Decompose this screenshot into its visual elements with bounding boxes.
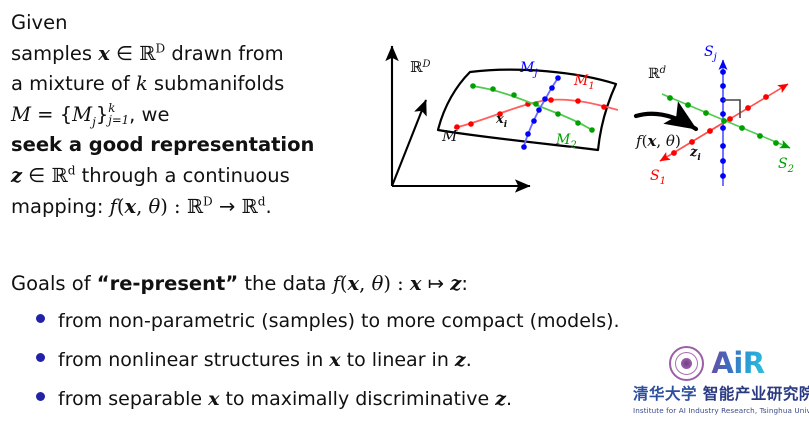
bullet-3-period: . [506, 388, 512, 410]
data-point [739, 125, 745, 131]
mapping-arrow [636, 114, 696, 129]
bullet-dot-icon [36, 392, 45, 401]
bullet-2-part-a: from nonlinear structures in [58, 349, 329, 371]
symbol-x-arg: x [124, 195, 136, 218]
samples-text: samples [11, 42, 98, 65]
domain-dim-D: D [203, 194, 213, 208]
air-tsinghua-logo: AiR 清华大学 智能产业研究院 Institute for AI Indust… [633, 345, 801, 417]
data-point [720, 83, 726, 89]
function-f: f [110, 195, 117, 218]
map-theta: θ [666, 132, 675, 150]
blue-subspace-label: Sj [704, 44, 717, 63]
red-subscript-1: 1 [660, 176, 666, 187]
bullet-2-symbol-z: z [455, 349, 466, 371]
feature-R: ℝ [648, 66, 660, 82]
data-point [555, 75, 561, 81]
map-close-paren: ) [675, 132, 681, 150]
goal-bullet-2: from nonlinear structures in x to linear… [36, 349, 472, 371]
data-point [671, 150, 677, 156]
bullet-2-part-b: to linear in [341, 349, 455, 371]
blue-S: S [704, 44, 714, 60]
data-point [531, 118, 537, 124]
given-line-3: M = {Mj}kj=1, we [11, 100, 371, 131]
goals-symbol-x: x [348, 272, 360, 295]
green-subscript-2: 2 [569, 140, 576, 151]
sample-x: x [495, 112, 504, 127]
logo-university-cn: 清华大学 [633, 385, 697, 403]
data-point [454, 124, 460, 130]
symbol-theta: θ [149, 195, 161, 218]
bullet-3-symbol-z: z [495, 388, 506, 410]
bullet-3-text: from separable x to maximally discrimina… [58, 388, 512, 410]
red-S: S [650, 168, 660, 184]
embedded-point-label: zi [689, 145, 701, 163]
element-of-symbol-2: ∈ [22, 164, 51, 187]
data-point [555, 111, 561, 117]
goal-bullet-3: from separable x to maximally discrimina… [36, 388, 512, 410]
feature-space-label: ℝd [648, 65, 666, 82]
bullet-dot-icon [36, 353, 45, 362]
given-line-4-emphasis: seek a good representation [11, 130, 371, 161]
data-point [490, 86, 496, 92]
manifold-label-M: M [441, 127, 458, 145]
submanifolds-text: submanifolds [148, 72, 285, 95]
data-point [667, 95, 673, 101]
data-point [720, 111, 726, 117]
mapping-label: mapping: [11, 195, 110, 218]
blue-curve-label: Mj [519, 60, 537, 79]
green-curve-label: M2 [555, 132, 577, 151]
data-point [757, 133, 763, 139]
data-point [720, 158, 726, 164]
element-of-symbol: ∈ [110, 42, 139, 65]
ambient-space-label: ℝD [410, 58, 431, 76]
given-line-6: mapping: f(x, θ) : ℝD → ℝd. [11, 192, 371, 223]
seal-core-icon [681, 358, 692, 369]
data-point [511, 92, 517, 98]
we-text: , we [129, 103, 169, 126]
data-point [720, 173, 726, 179]
bullet-dot-icon [36, 314, 45, 323]
maps-to-arrow: → [213, 195, 242, 218]
goals-middle: the data [238, 272, 333, 295]
given-line-2: a mixture of k submanifolds [11, 69, 371, 100]
seek-representation-text: seek a good representation [11, 133, 314, 156]
codomain-R: ℝ [241, 195, 257, 218]
red-curve-label: M1 [573, 73, 595, 92]
bullet-3-part-b: to maximally discriminative [219, 388, 495, 410]
index-range: kj=1 [108, 103, 129, 127]
goals-prefix: Goals of [11, 272, 97, 295]
domain-R: ℝ [187, 195, 203, 218]
sample-point-label: xi [495, 112, 508, 130]
sample-subscript-i: i [504, 120, 508, 130]
goals-close-paren: ) : [383, 272, 410, 295]
manifold-to-subspace-diagram: ℝD M M1 [378, 28, 809, 233]
manifold-symbol-M: M [11, 103, 31, 126]
symbol-z: z [11, 164, 22, 187]
data-point [525, 131, 531, 137]
end-period: . [265, 195, 271, 218]
drawn-from-text: drawn from [165, 42, 283, 65]
red-M: M [573, 73, 589, 89]
data-point [470, 83, 476, 89]
goals-symbol-x2: x [410, 272, 422, 295]
given-line-0: Given [11, 8, 371, 39]
green-subscript-2: 2 [787, 164, 794, 175]
manifold-symbol-Mj: M [72, 103, 92, 126]
ambient-R: ℝ [410, 58, 423, 76]
data-point [575, 98, 581, 104]
goals-symbol-theta: θ [372, 272, 384, 295]
air-wordmark: AiR [711, 349, 764, 378]
goals-symbol-z: z [450, 272, 461, 295]
dimension-D: D [156, 41, 166, 55]
goals-function-f: f [333, 272, 340, 295]
data-point [549, 85, 555, 91]
map-comma: , [656, 132, 666, 150]
feature-d: d [660, 65, 666, 76]
given-problem-statement: Given samples x ∈ ℝD drawn from a mixtur… [11, 8, 371, 222]
data-point [703, 110, 709, 116]
logo-institute-cn: 智能产业研究院 [703, 385, 809, 403]
blue-M: M [519, 60, 535, 76]
goals-heading: Goals of “re-present” the data f(x, θ) :… [11, 272, 468, 295]
data-point [468, 121, 474, 127]
data-point [721, 118, 727, 124]
index-lower-j1: j=1 [108, 115, 129, 127]
data-point [720, 125, 726, 131]
goals-colon: : [461, 272, 468, 295]
goals-mapsto: ↦ [422, 272, 451, 295]
ambient-D: D [421, 59, 430, 70]
goals-comma: , [359, 272, 371, 295]
bullet-1-body: from non-parametric (samples) to more co… [58, 310, 620, 332]
embedded-subscript-i: i [697, 153, 701, 163]
arg-comma: , [136, 195, 148, 218]
data-point [763, 94, 769, 100]
bullet-2-symbol-x: x [329, 349, 340, 371]
green-S: S [778, 156, 788, 172]
goals-open-paren: ( [340, 272, 348, 295]
through-continuous-text: through a continuous [75, 164, 289, 187]
green-subspace-label: S2 [778, 156, 794, 175]
symbol-k: k [136, 72, 148, 95]
data-point [589, 127, 595, 133]
bullet-3-part-a: from separable [58, 388, 208, 410]
re-present-quoted: “re-present” [97, 272, 238, 295]
green-M: M [555, 132, 571, 148]
tsinghua-seal-icon [669, 346, 704, 381]
data-point [536, 107, 542, 113]
bullet-2-text: from nonlinear structures in x to linear… [58, 349, 472, 371]
data-point [720, 69, 726, 75]
closing-brace: } [96, 103, 108, 126]
logo-mark-row: AiR [633, 345, 801, 381]
mixture-text: a mixture of [11, 72, 136, 95]
data-point [533, 101, 539, 107]
data-point [720, 143, 726, 149]
data-point [542, 96, 548, 102]
slide-canvas: Given samples x ∈ ℝD drawn from a mixtur… [0, 0, 809, 427]
red-subspace-label: S1 [650, 168, 666, 187]
data-point [745, 105, 751, 111]
symbol-x: x [98, 42, 110, 65]
given-line-1: samples x ∈ ℝD drawn from [11, 39, 371, 70]
equals-brace: = { [31, 103, 72, 126]
data-point [548, 97, 554, 103]
close-paren-colon: ) : [160, 195, 187, 218]
given-line-5: z ∈ ℝd through a continuous [11, 161, 371, 192]
bullet-2-period: . [466, 349, 472, 371]
data-point [601, 104, 607, 110]
data-point [685, 102, 691, 108]
goal-bullet-1: from non-parametric (samples) to more co… [36, 310, 620, 332]
logo-chinese-line: 清华大学 智能产业研究院 [633, 382, 801, 404]
red-subscript-1: 1 [588, 81, 594, 92]
data-point [707, 128, 713, 134]
axis-depth [392, 100, 426, 186]
logo-english-line: Institute for AI Industry Research, Tsin… [633, 406, 801, 415]
bullet-3-symbol-x: x [208, 388, 219, 410]
mapping-function-label: f(x, θ) [635, 132, 681, 150]
real-numbers-symbol-2: ℝ [51, 164, 67, 187]
data-point [575, 120, 581, 126]
real-numbers-symbol: ℝ [139, 42, 155, 65]
given-word: Given [11, 11, 67, 34]
data-point [773, 140, 779, 146]
bullet-1-text: from non-parametric (samples) to more co… [58, 310, 620, 332]
data-point [521, 144, 527, 150]
